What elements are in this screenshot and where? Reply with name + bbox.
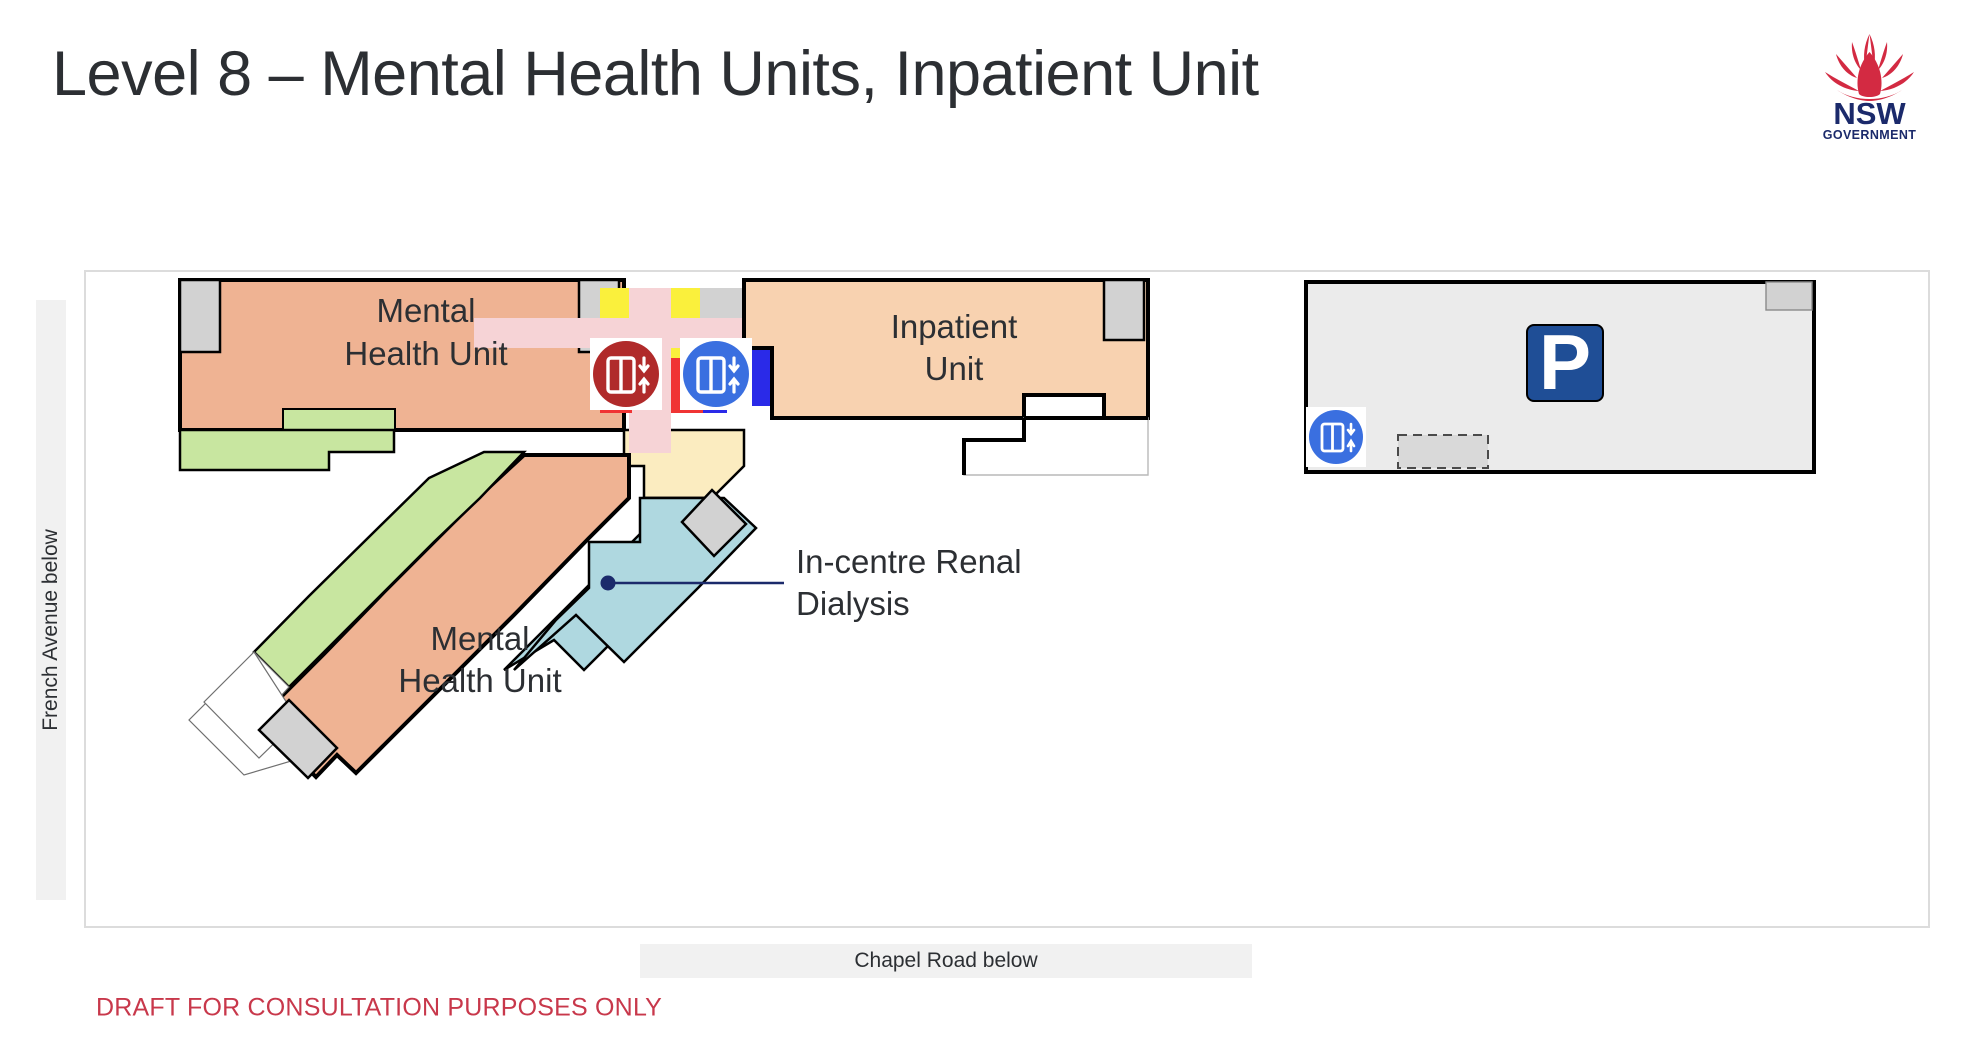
callout-label-line2: Dialysis: [796, 585, 910, 622]
chapel-road-band: Chapel Road below: [640, 944, 1252, 978]
lift-icon-carpark[interactable]: [1306, 407, 1366, 467]
callout-label-line1: In-centre Renal: [796, 543, 1022, 580]
logo-nsw-text: NSW: [1833, 96, 1906, 131]
waratah-icon: [1825, 34, 1914, 101]
label-inpatient-line1: Inpatient: [891, 308, 1018, 345]
zone-support-green-west-shape: [180, 430, 394, 470]
stair-core-grey-ne: [1104, 280, 1144, 340]
chapel-road-label: Chapel Road below: [854, 949, 1037, 973]
callout-anchor-dot: [601, 576, 616, 591]
floorplan-drawing: P Mental Health Unit Inpatient Unit Ment…: [84, 270, 1930, 928]
parking-sign: P: [1527, 318, 1603, 406]
carpark-dashed-bay: [1398, 435, 1488, 468]
zone-inpatient-unit: [744, 280, 1148, 418]
stair-core-grey-carpark-ne: [1766, 282, 1812, 310]
label-mhu-south-line2: Health Unit: [398, 662, 561, 699]
draft-notice: DRAFT FOR CONSULTATION PURPOSES ONLY: [96, 994, 662, 1023]
nsw-government-logo: NSW GOVERNMENT: [1807, 26, 1932, 146]
stair-core-grey-nw: [180, 280, 220, 352]
page-title: Level 8 – Mental Health Units, Inpatient…: [52, 38, 1259, 110]
parking-sign-letter: P: [1539, 318, 1591, 406]
zone-service-yellow-left: [600, 288, 629, 318]
zone-service-yellow-right: [671, 288, 700, 318]
void-outline-inpatient: [964, 418, 1148, 475]
logo-government-text: GOVERNMENT: [1823, 128, 1917, 142]
label-mhu-south-line1: Mental: [430, 620, 529, 657]
label-inpatient-line2: Unit: [925, 350, 984, 387]
label-mhu-north-line1: Mental: [376, 292, 475, 329]
lift-icon-red[interactable]: [590, 338, 662, 410]
french-avenue-band: [36, 300, 66, 900]
label-mhu-north-line2: Health Unit: [344, 335, 507, 372]
lift-icon-blue[interactable]: [680, 338, 752, 410]
